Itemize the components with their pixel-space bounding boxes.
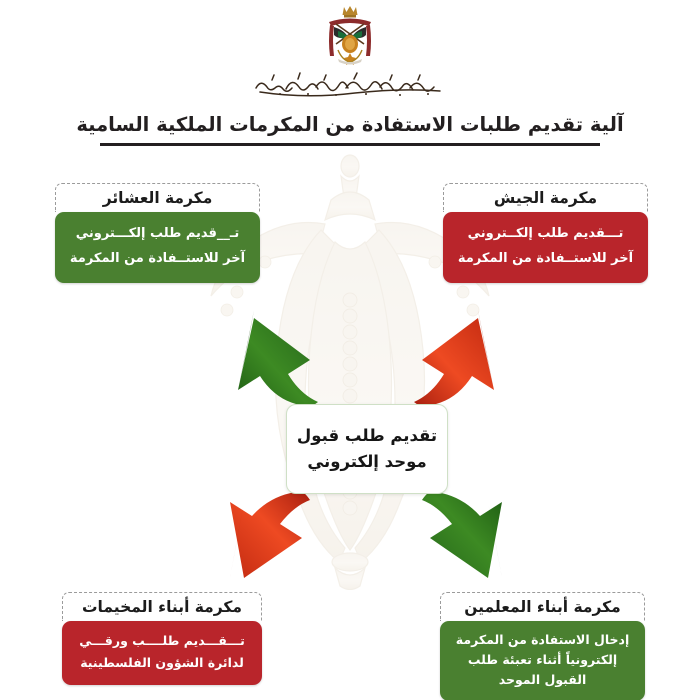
arrow-center-to-tribes xyxy=(238,310,318,408)
card-tribes[interactable]: مكرمة العشائر تـ__قديم طلب إلكـــتروني آ… xyxy=(55,183,260,283)
card-army-line-1: تـــقديم طلب إلكــتروني xyxy=(453,221,638,246)
title-block: آلية تقديم طلبات الاستفادة من المكرمات ا… xyxy=(0,113,700,146)
ministry-calligraphy xyxy=(0,62,700,104)
jordan-coat-of-arms-emblem xyxy=(318,4,382,66)
arrow-center-to-teachers xyxy=(422,491,502,578)
center-node-unified-request[interactable]: تقديم طلب قبول موحد إلكتروني xyxy=(286,404,448,494)
card-tribes-body: تـ__قديم طلب إلكـــتروني آخر للاستــفادة… xyxy=(55,212,260,283)
card-tribes-line-1: تـ__قديم طلب إلكـــتروني xyxy=(65,221,250,246)
card-camps-body: تـــقـــديم طلــــب ورقـــي لدائرة الشؤو… xyxy=(62,621,262,685)
center-node-line-1: تقديم طلب قبول xyxy=(297,423,437,449)
card-tribes-header: مكرمة العشائر xyxy=(55,183,260,212)
card-teachers-header: مكرمة أبناء المعلمين xyxy=(440,592,645,621)
center-node-text: تقديم طلب قبول موحد إلكتروني xyxy=(297,423,437,474)
card-teachers-line-1: إدخال الاستفادة من المكرمة xyxy=(450,630,635,650)
infographic-page: آلية تقديم طلبات الاستفادة من المكرمات ا… xyxy=(0,0,700,700)
card-army[interactable]: مكرمة الجيش تـــقديم طلب إلكــتروني آخر … xyxy=(443,183,648,283)
page-title: آلية تقديم طلبات الاستفادة من المكرمات ا… xyxy=(76,113,623,136)
card-teachers-line-2: إلكترونياً أثناء تعبئة طلب xyxy=(450,650,635,670)
card-teachers[interactable]: مكرمة أبناء المعلمين إدخال الاستفادة من … xyxy=(440,592,645,700)
card-camps-header: مكرمة أبناء المخيمات xyxy=(62,592,262,621)
card-tribes-line-2: آخر للاستــفادة من المكرمة xyxy=(65,246,250,271)
center-node-line-2: موحد إلكتروني xyxy=(297,449,437,475)
card-army-line-2: آخر للاستــفادة من المكرمة xyxy=(453,246,638,271)
arrow-center-to-camps xyxy=(230,491,310,578)
arrow-center-to-army xyxy=(414,310,494,408)
emblem-container xyxy=(0,4,700,70)
title-underline xyxy=(100,143,600,146)
card-camps-line-2: لدائرة الشؤون الفلسطينية xyxy=(72,652,252,674)
card-army-body: تـــقديم طلب إلكــتروني آخر للاستــفادة … xyxy=(443,212,648,283)
card-teachers-body: إدخال الاستفادة من المكرمة إلكترونياً أث… xyxy=(440,621,645,700)
card-army-header: مكرمة الجيش xyxy=(443,183,648,212)
card-camps[interactable]: مكرمة أبناء المخيمات تـــقـــديم طلــــب… xyxy=(62,592,262,685)
card-camps-line-1: تـــقـــديم طلــــب ورقـــي xyxy=(72,630,252,652)
card-teachers-line-3: القبول الموحد xyxy=(450,670,635,690)
